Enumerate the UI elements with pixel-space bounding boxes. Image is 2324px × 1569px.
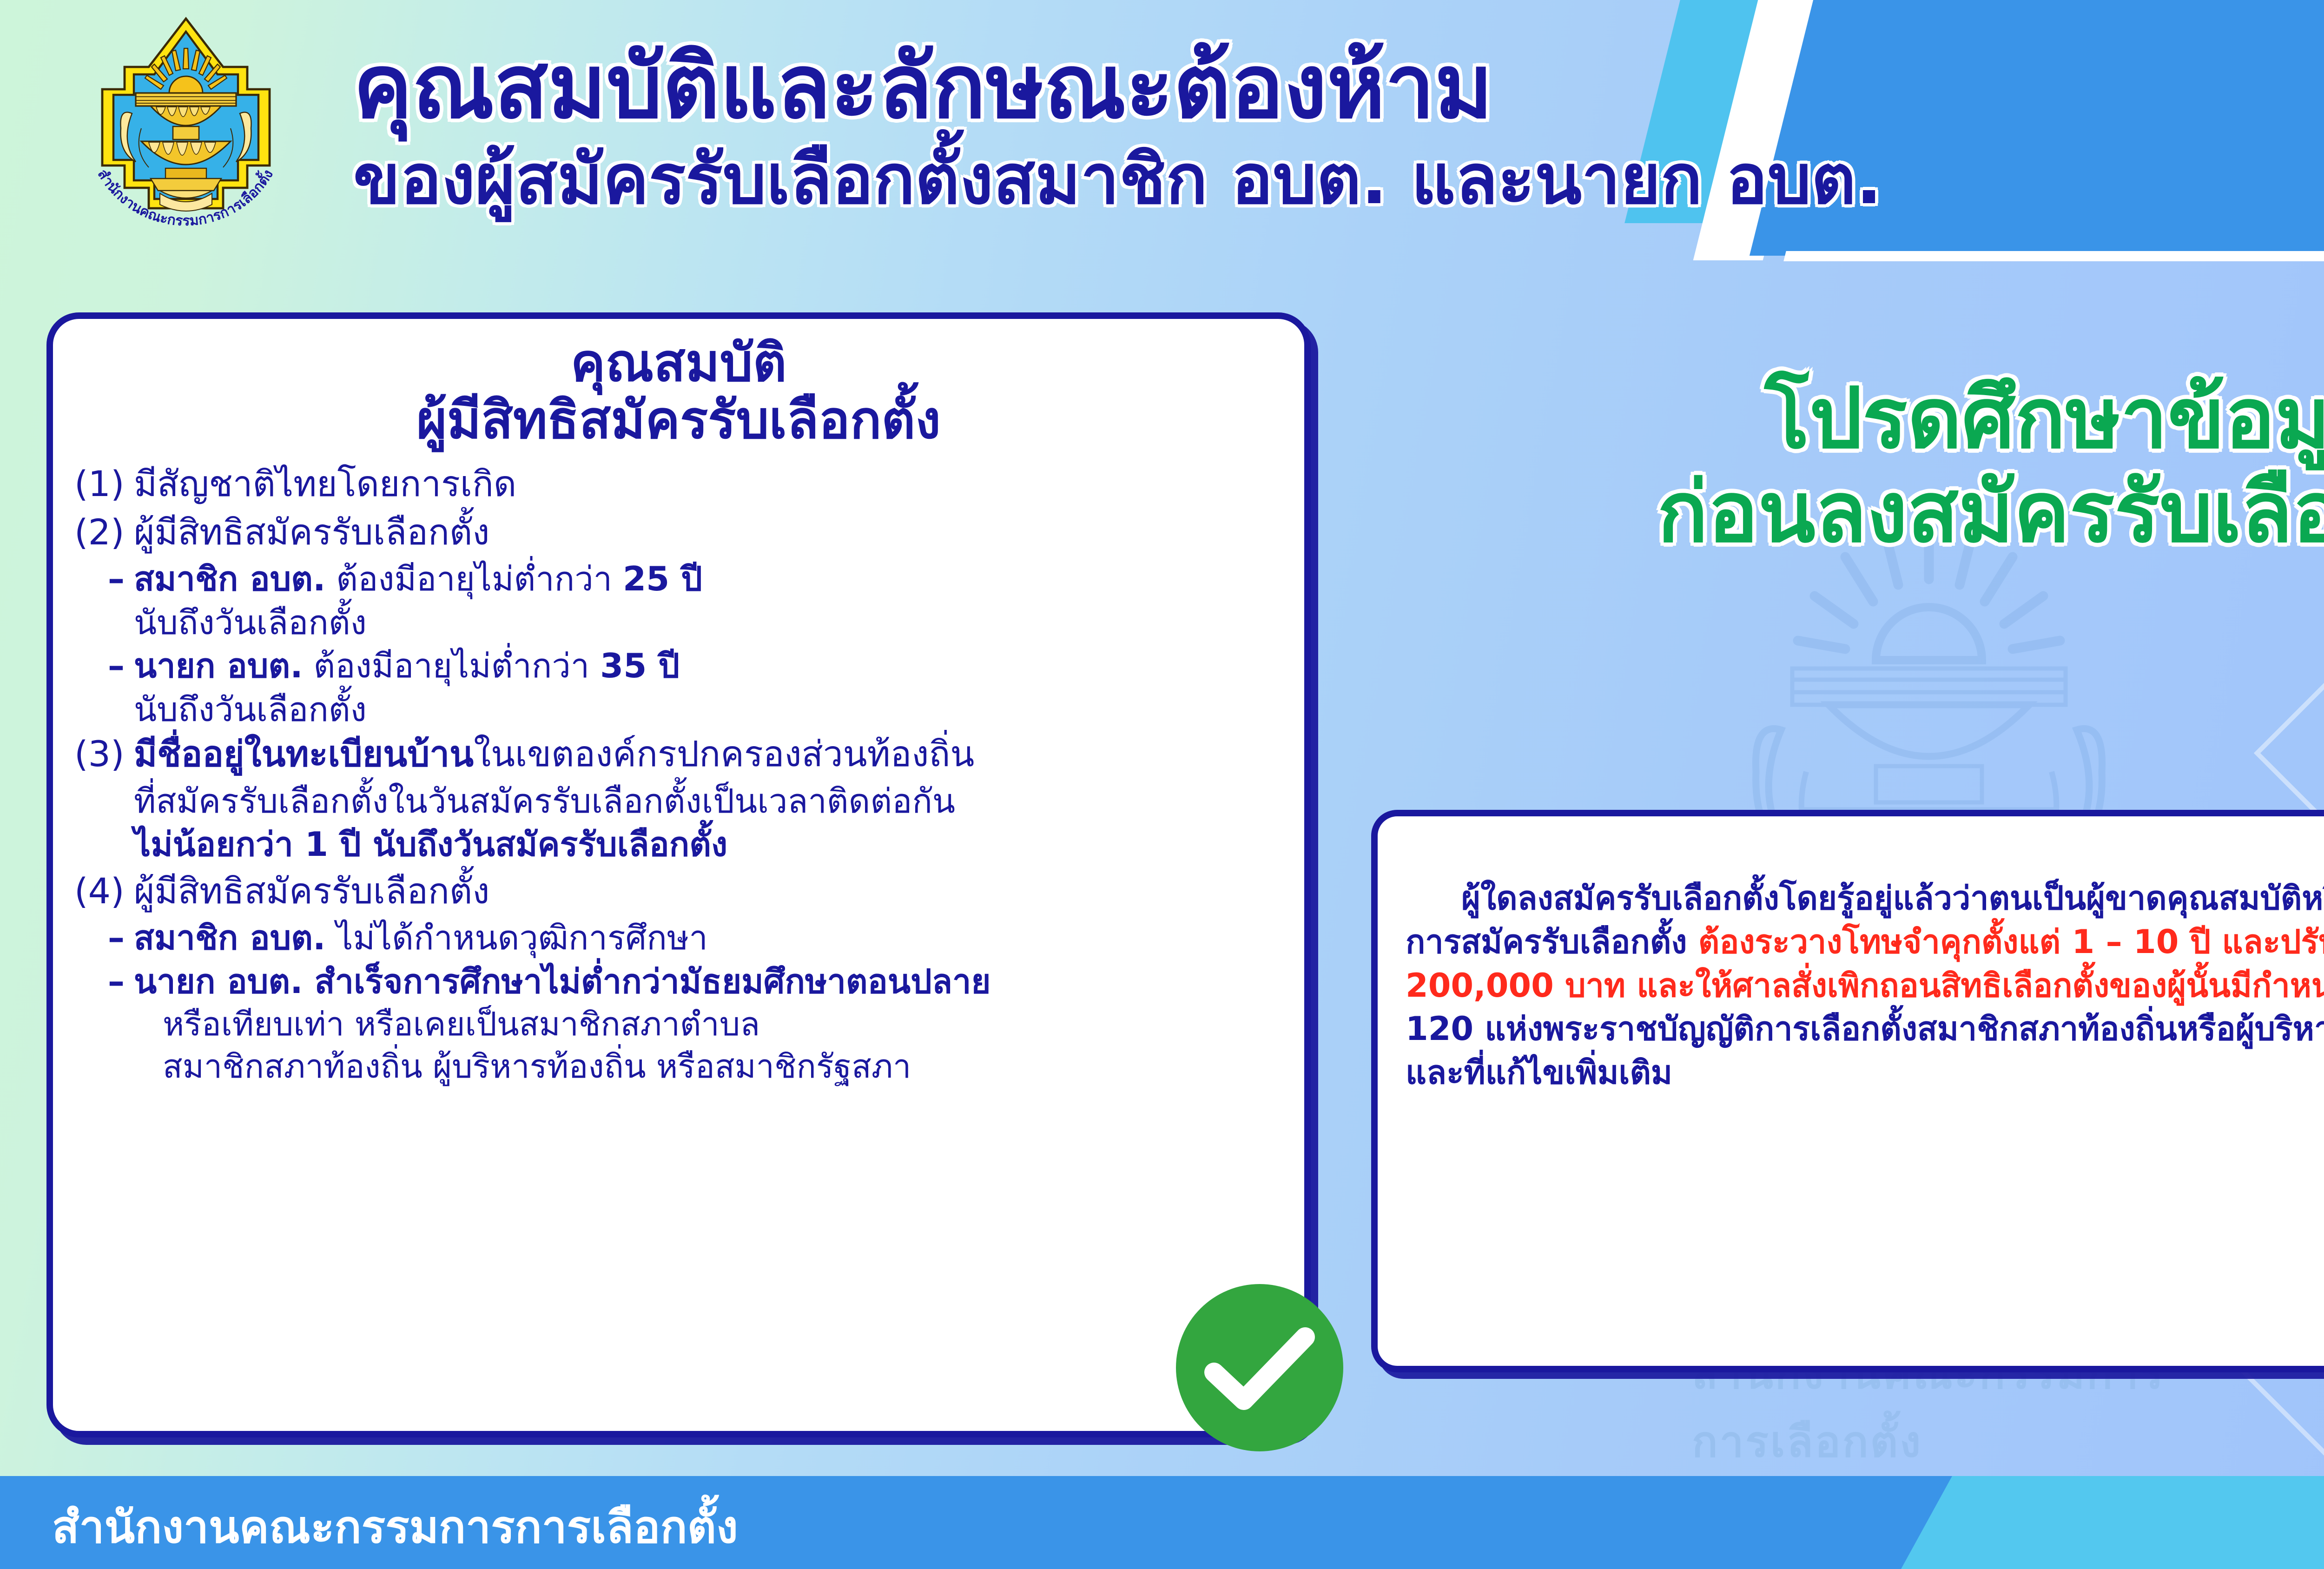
headline-line-1: โปรดศึกษาข้อมูล — [1376, 372, 2324, 466]
poster-canvas: สำนักงานคณะกรรมการการเลือกตั้ง — [0, 0, 2324, 1569]
sub-item: – นายก อบต. ต้องมีอายุไม่ต่ำกว่า 35 ปี — [108, 644, 1283, 688]
qualification-card: คุณสมบัติ ผู้มีสิทธิสมัครรับเลือกตั้ง (1… — [46, 312, 1311, 1437]
item-text: ผู้มีสิทธิสมัครรับเลือกตั้ง — [134, 510, 1283, 555]
ect-emblem-logo: สำนักงานคณะกรรมการการเลือกตั้ง — [84, 9, 288, 232]
page-title: คุณสมบัติและลักษณะต้องห้าม ของผู้สมัครรั… — [353, 42, 2324, 216]
item-text: มีชื่ออยู่ในทะเบียนบ้านในเขตองค์กรปกครอง… — [134, 731, 1283, 776]
warning-text: ผู้ใดลงสมัครรับเลือกตั้งโดยรู้อยู่แล้วว่… — [1406, 877, 2324, 1095]
item-number: (4) — [74, 868, 134, 914]
list-item: (1) มีสัญชาติไทยโดยการเกิด — [74, 461, 1283, 506]
page-footer: สำนักงานคณะกรรมการการเลือกตั้ง หน้า 1/2 — [0, 1476, 2324, 1569]
item-text-rest: ในเขตองค์กรปกครองส่วนท้องถิ่น — [474, 733, 974, 775]
item-number: (2) — [74, 510, 134, 555]
footer-organization: สำนักงานคณะกรรมการการเลือกตั้ง — [52, 1492, 738, 1562]
qual-title-line-2: ผู้มีสิทธิสมัครรับเลือกตั้ง — [74, 392, 1283, 449]
qual-title-line-1: คุณสมบัติ — [74, 335, 1283, 392]
qualification-list: (1) มีสัญชาติไทยโดยการเกิด (2) ผู้มีสิทธ… — [74, 461, 1283, 1088]
sub-item-body: ไม่ได้กำหนดวุฒิการศึกษา — [325, 918, 707, 957]
sub-item-lead: สมาชิก อบต. — [134, 559, 325, 598]
sub-item-lead: นายก อบต. — [134, 646, 303, 685]
sub-item-text: สมาชิก อบต. ต้องมีอายุไม่ต่ำกว่า 25 ปี — [134, 557, 1283, 601]
item-text: ผู้มีสิทธิสมัครรับเลือกตั้ง — [134, 868, 1283, 914]
sub-item-lead: นายก อบต. สำเร็จการศึกษาไม่ต่ำกว่ามัธยมศ… — [134, 962, 991, 1001]
svg-text:สำนักงานคณะกรรมการการเลือกตั้ง: สำนักงานคณะกรรมการการเลือกตั้ง — [94, 166, 277, 229]
sub-item: – สมาชิก อบต. ต้องมีอายุไม่ต่ำกว่า 25 ปี — [108, 557, 1283, 601]
sub-item-continuation-2: สมาชิกสภาท้องถิ่น ผู้บริหารท้องถิ่น หรือ… — [163, 1046, 1283, 1088]
dash-bullet: – — [108, 644, 134, 688]
item-number: (3) — [74, 731, 134, 776]
sub-item-lead: สมาชิก อบต. — [134, 918, 325, 957]
sub-item-continuation: นับถึงวันเลือกตั้ง — [134, 688, 1283, 732]
item-text: มีสัญชาติไทยโดยการเกิด — [134, 461, 1283, 506]
sub-item-highlight: 35 ปี — [600, 646, 680, 685]
sub-item-body: ต้องมีอายุไม่ต่ำกว่า — [303, 646, 601, 685]
sub-item-body: ต้องมีอายุไม่ต่ำกว่า — [325, 559, 623, 598]
headline-line-2: ก่อนลงสมัครรับเลือกตั้ง — [1376, 466, 2324, 560]
sub-item-continuation: นับถึงวันเลือกตั้ง — [134, 601, 1283, 645]
title-line-1: คุณสมบัติและลักษณะต้องห้าม — [353, 42, 2324, 132]
headline-block: โปรดศึกษาข้อมูล ก่อนลงสมัครรับเลือกตั้ง — [1376, 372, 2324, 559]
item-line-3: ไม่น้อยกว่า 1 ปี นับถึงวันสมัครรับเลือกต… — [134, 823, 1283, 867]
sub-item-continuation: หรือเทียบเท่า หรือเคยเป็นสมาชิกสภาตำบล — [163, 1003, 1283, 1046]
sub-item-text: สมาชิก อบต. ไม่ได้กำหนดวุฒิการศึกษา — [134, 916, 1283, 960]
item-number: (1) — [74, 461, 134, 506]
sub-item: – สมาชิก อบต. ไม่ได้กำหนดวุฒิการศึกษา — [108, 916, 1283, 960]
dash-bullet: – — [108, 557, 134, 601]
item-line-2: ที่สมัครรับเลือกตั้งในวันสมัครรับเลือกตั… — [134, 780, 1283, 823]
title-line-2: ของผู้สมัครรับเลือกตั้งสมาชิก อบต. และนา… — [353, 144, 2324, 216]
qualification-card-title: คุณสมบัติ ผู้มีสิทธิสมัครรับเลือกตั้ง — [74, 335, 1283, 449]
sub-item-text: นายก อบต. ต้องมีอายุไม่ต่ำกว่า 35 ปี — [134, 644, 1283, 688]
item-text-bold-head: มีชื่ออยู่ในทะเบียนบ้าน — [134, 733, 474, 775]
list-item: (2) ผู้มีสิทธิสมัครรับเลือกตั้ง — [74, 510, 1283, 555]
warning-card: ผู้ใดลงสมัครรับเลือกตั้งโดยรู้อยู่แล้วว่… — [1371, 810, 2324, 1372]
page-header: สำนักงานคณะกรรมการการเลือกตั้ง คุณสมบัติ… — [0, 0, 2324, 288]
sub-item-highlight: 25 ปี — [623, 559, 702, 598]
list-item: (3) มีชื่ออยู่ในทะเบียนบ้านในเขตองค์กรปก… — [74, 731, 1283, 776]
dash-bullet: – — [108, 916, 134, 960]
check-circle-icon — [1176, 1284, 1343, 1451]
sub-item: – นายก อบต. สำเร็จการศึกษาไม่ต่ำกว่ามัธย… — [108, 960, 1283, 1004]
dash-bullet: – — [108, 960, 134, 1004]
sub-item-text: นายก อบต. สำเร็จการศึกษาไม่ต่ำกว่ามัธยมศ… — [134, 960, 1283, 1004]
list-item: (4) ผู้มีสิทธิสมัครรับเลือกตั้ง — [74, 868, 1283, 914]
